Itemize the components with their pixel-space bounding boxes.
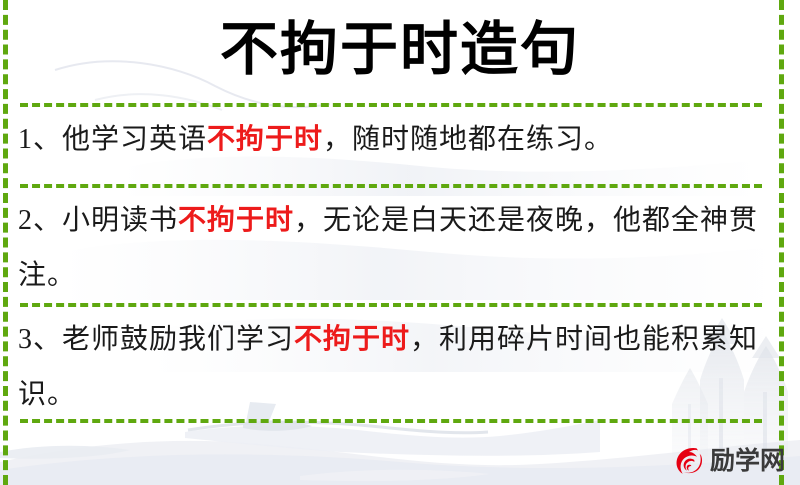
separator-top: [20, 103, 762, 107]
separator-1: [20, 184, 762, 188]
separator-2: [20, 303, 762, 307]
sentence-text-after: ，随时随地都在练习。: [323, 124, 613, 155]
sentence-index: 1、: [18, 124, 62, 155]
slide-page: 不拘于时造句 1、他学习英语不拘于时，随时随地都在练习。 2、小明读书不拘于时，…: [0, 0, 800, 485]
list-item: 2、小明读书不拘于时，无论是白天还是夜晚，他都全神贯注。: [18, 193, 762, 303]
logo-text: 励学网: [710, 446, 785, 476]
sentence-text-before: 小明读书: [62, 205, 178, 236]
page-title: 不拘于时造句: [0, 8, 800, 92]
sentence-text-before: 他学习英语: [62, 124, 207, 155]
sentence-highlight: 不拘于时: [178, 205, 294, 236]
list-item: 1、他学习英语不拘于时，随时随地都在练习。: [18, 112, 762, 167]
sentence-highlight: 不拘于时: [207, 124, 323, 155]
sentence-index: 2、: [18, 205, 62, 236]
site-logo[interactable]: 励学网: [672, 441, 785, 481]
sentence-index: 3、: [18, 324, 62, 355]
red-swirl-phoenix-icon: [672, 444, 706, 478]
sentence-text-before: 老师鼓励我们学习: [62, 324, 294, 355]
list-item: 3、老师鼓励我们学习不拘于时，利用碎片时间也能积累知识。: [18, 312, 762, 422]
sentence-highlight: 不拘于时: [294, 324, 410, 355]
